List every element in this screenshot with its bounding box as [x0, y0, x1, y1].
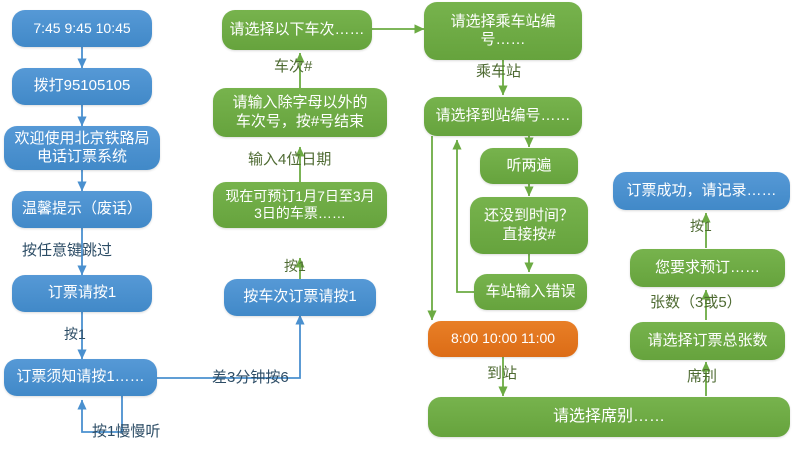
node-label: 请输入除字母以外的 车次号，按#号结束: [232, 94, 367, 131]
edge-label-text: 张数（3或5）: [650, 294, 742, 311]
edge-label-ticket-count: 张数（3或5）: [650, 295, 742, 310]
node-choose-arrive-station[interactable]: 请选择到站编号……: [424, 97, 582, 136]
flowchart-canvas: 7:45 9:45 10:45 拨打95105105 欢迎使用北京铁路局 电话订…: [0, 0, 800, 453]
edge-label-text: 按1: [690, 218, 712, 234]
node-your-request[interactable]: 您要求预订……: [630, 249, 785, 287]
node-label: 请选择以下车次……: [229, 21, 364, 39]
node-label: 温馨提示（废话）: [22, 200, 142, 218]
node-label: 还没到时间？ 直接按#: [484, 207, 574, 244]
node-label: 欢迎使用北京铁路局 电话订票系统: [14, 130, 149, 167]
edge-label-enter-4-date: 输入4位日期: [248, 152, 331, 167]
node-not-yet-time[interactable]: 还没到时间？ 直接按#: [470, 197, 588, 254]
node-press-1-to-book[interactable]: 订票请按1: [12, 275, 152, 312]
node-choose-ticket-count[interactable]: 请选择订票总张数: [630, 322, 785, 360]
node-station-input-error[interactable]: 车站输入错误: [474, 274, 587, 310]
node-label: 车站输入错误: [485, 283, 575, 301]
node-label: 现在可预订1月7日至3月 3日的车票……: [225, 188, 374, 222]
node-label: 拨打95105105: [34, 77, 131, 95]
node-departure-times[interactable]: 8:00 10:00 11:00: [428, 321, 578, 357]
node-call-times[interactable]: 7:45 9:45 10:45: [12, 10, 152, 47]
edge-label-press-1-c: 按1: [690, 219, 712, 233]
node-booking-success[interactable]: 订票成功，请记录……: [613, 172, 790, 210]
edge-label-press-1-b: 按1: [284, 259, 306, 273]
edge-label-text: 按1: [284, 258, 306, 274]
edge-label-text: 车次#: [274, 58, 312, 75]
edge-label-board-station: 乘车站: [476, 64, 521, 79]
node-label: 8:00 10:00 11:00: [451, 330, 555, 347]
node-tips[interactable]: 温馨提示（废话）: [12, 191, 152, 228]
node-enter-train-no[interactable]: 请输入除字母以外的 车次号，按#号结束: [213, 88, 387, 137]
edge-label-text: 按任意键跳过: [22, 242, 112, 259]
node-label: 按车次订票请按1: [243, 288, 356, 306]
node-listen-twice[interactable]: 听两遍: [480, 148, 578, 184]
edge-label-text: 差3分钟按6: [212, 369, 289, 386]
edge-label-text: 到站: [487, 365, 517, 382]
node-book-by-train-no[interactable]: 按车次订票请按1: [224, 279, 376, 316]
edge-label-text: 席别: [687, 368, 717, 385]
node-label: 请选择订票总张数: [647, 332, 767, 350]
node-label: 订票成功，请记录……: [626, 182, 776, 200]
node-label: 您要求预订……: [655, 259, 760, 277]
node-label: 订票须知请按1……: [16, 368, 144, 386]
edge-label-seat-type: 席别: [687, 369, 717, 384]
edge-label-arrive-station: 到站: [487, 366, 517, 381]
edge-label-3min-press-6: 差3分钟按6: [212, 370, 289, 385]
edge-label-train-no-hash: 车次#: [274, 59, 312, 74]
node-label: 听两遍: [506, 157, 551, 175]
node-booking-window[interactable]: 现在可预订1月7日至3月 3日的车票……: [213, 182, 387, 228]
edge-label-press-any-key: 按任意键跳过: [22, 243, 112, 258]
edge-label-text: 乘车站: [476, 63, 521, 80]
node-label: 7:45 9:45 10:45: [33, 20, 130, 37]
edge-label-press-1-a: 按1: [64, 327, 86, 341]
edge-label-text: 按1慢慢听: [92, 423, 160, 440]
node-label: 请选择席别……: [553, 407, 665, 427]
edge-label-text: 按1: [64, 326, 86, 342]
edge-label-text: 输入4位日期: [248, 151, 331, 168]
node-label: 订票请按1: [48, 284, 116, 302]
node-booking-notice[interactable]: 订票须知请按1……: [4, 359, 157, 396]
node-choose-seat-type[interactable]: 请选择席别……: [428, 397, 790, 437]
node-label: 请选择到站编号……: [435, 107, 570, 125]
node-dial-number[interactable]: 拨打95105105: [12, 68, 152, 105]
node-choose-board-station[interactable]: 请选择乘车站编 号……: [424, 2, 582, 60]
node-choose-train[interactable]: 请选择以下车次……: [222, 10, 372, 50]
edge-label-press-1-slow: 按1慢慢听: [92, 424, 160, 439]
node-label: 请选择乘车站编 号……: [450, 13, 555, 50]
node-welcome[interactable]: 欢迎使用北京铁路局 电话订票系统: [4, 126, 160, 170]
